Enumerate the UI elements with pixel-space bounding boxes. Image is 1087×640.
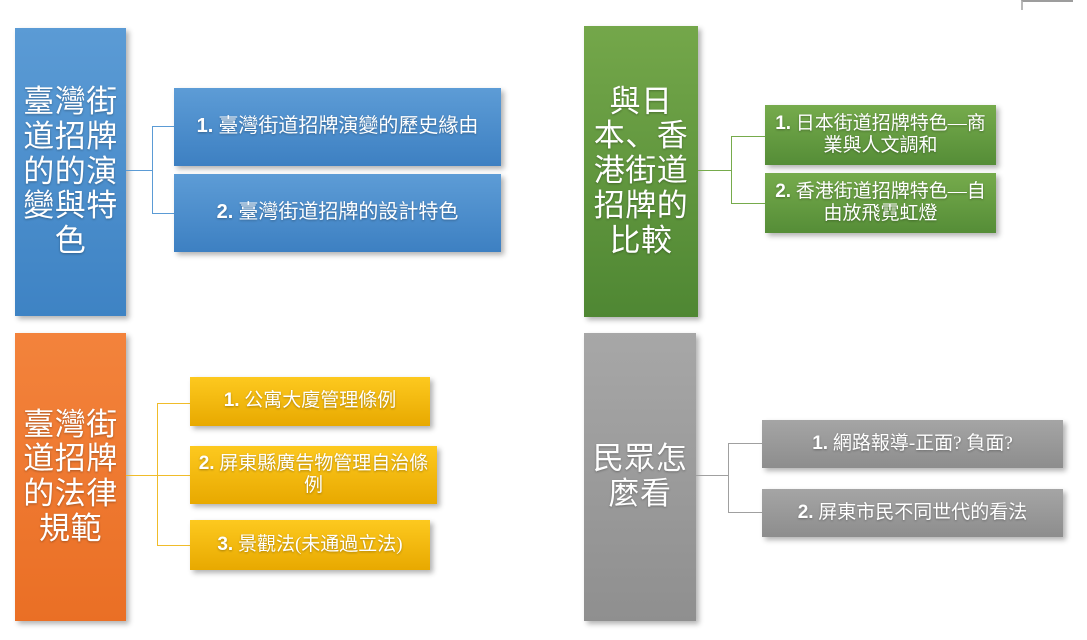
child-number: 1.	[812, 433, 828, 454]
child-number: 2.	[798, 502, 814, 523]
connector-spine-green	[731, 136, 732, 204]
branch-child-box[interactable]: 1. 公寓大廈管理條例	[190, 377, 430, 426]
child-text: 景觀法(未通過立法)	[238, 534, 403, 555]
branch-child-label: 3. 景觀法(未通過立法)	[198, 534, 422, 556]
branch-parent-label: 臺灣街道招牌的法律規範	[15, 408, 126, 547]
branch-child-label: 1. 網路報導-正面? 負面?	[770, 433, 1055, 455]
branch-child-box[interactable]: 2. 屏東縣廣告物管理自治條例	[190, 446, 437, 504]
branch-child-box[interactable]: 2. 屏東市民不同世代的看法	[762, 489, 1063, 537]
branch-parent-label: 臺灣街道招牌的的演變與特色	[15, 85, 126, 259]
connector-stem-grey	[696, 475, 729, 476]
branch-parent-taiwan-evolution[interactable]: 臺灣街道招牌的的演變與特色	[15, 28, 126, 316]
child-text: 屏東縣廣告物管理自治條例	[219, 453, 428, 496]
child-text: 臺灣街道招牌演變的歷史緣由	[218, 115, 478, 137]
child-text: 日本街道招牌特色—商業與人文調和	[796, 113, 986, 156]
branch-child-label: 2. 香港街道招牌特色—自由放飛霓虹燈	[773, 181, 988, 226]
connector-arm-grey-2	[728, 512, 764, 513]
child-number: 3.	[217, 534, 233, 555]
branch-child-box[interactable]: 1. 網路報導-正面? 負面?	[762, 420, 1063, 468]
child-text: 香港街道招牌特色—自由放飛霓虹燈	[796, 181, 986, 224]
child-text: 臺灣街道招牌的設計特色	[238, 201, 458, 223]
branch-parent-taiwan-law[interactable]: 臺灣街道招牌的法律規範	[15, 333, 126, 621]
branch-child-label: 2. 臺灣街道招牌的設計特色	[182, 201, 493, 225]
branch-child-label: 1. 日本街道招牌特色—商業與人文調和	[773, 113, 988, 158]
branch-parent-public-opinion[interactable]: 民眾怎麼看	[584, 333, 696, 621]
connector-stem-yellow	[126, 475, 158, 476]
connector-arm-yellow-1	[157, 403, 191, 404]
child-number: 1.	[775, 113, 791, 134]
child-number: 1.	[224, 390, 240, 411]
clipped-frame-artifact	[1021, 0, 1073, 10]
connector-arm-grey-1	[728, 443, 764, 444]
branch-parent-japan-hk-comparison[interactable]: 與日本、香港街道招牌的比較	[584, 26, 698, 317]
child-number: 2.	[217, 201, 234, 223]
child-text: 公寓大廈管理條例	[244, 390, 396, 411]
child-number: 1.	[197, 115, 214, 137]
connector-arm-green-1	[731, 136, 766, 137]
branch-child-label: 1. 公寓大廈管理條例	[198, 390, 422, 412]
child-text: 網路報導-正面? 負面?	[833, 433, 1013, 454]
connector-arm-blue-2	[152, 213, 175, 214]
branch-child-box[interactable]: 3. 景觀法(未通過立法)	[190, 520, 430, 570]
branch-child-box[interactable]: 1. 臺灣街道招牌演變的歷史緣由	[174, 88, 501, 166]
branch-child-box[interactable]: 2. 香港街道招牌特色—自由放飛霓虹燈	[765, 173, 996, 233]
connector-stem-green	[698, 170, 732, 171]
branch-child-box[interactable]: 2. 臺灣街道招牌的設計特色	[174, 174, 501, 252]
connector-stem-blue	[126, 170, 153, 171]
branch-child-box[interactable]: 1. 日本街道招牌特色—商業與人文調和	[765, 105, 996, 165]
branch-parent-label: 民眾怎麼看	[584, 442, 696, 511]
branch-parent-label: 與日本、香港街道招牌的比較	[584, 85, 698, 259]
branch-child-label: 2. 屏東市民不同世代的看法	[770, 502, 1055, 524]
diagram-canvas: 臺灣街道招牌的的演變與特色 1. 臺灣街道招牌演變的歷史緣由 2. 臺灣街道招牌…	[0, 0, 1087, 640]
branch-child-label: 2. 屏東縣廣告物管理自治條例	[198, 453, 429, 498]
connector-arm-yellow-2	[157, 475, 191, 476]
child-number: 2.	[199, 453, 215, 474]
connector-arm-green-2	[731, 203, 766, 204]
branch-child-label: 1. 臺灣街道招牌演變的歷史緣由	[182, 115, 493, 139]
connector-spine-blue	[152, 126, 153, 214]
connector-spine-grey	[728, 443, 729, 513]
connector-arm-blue-1	[152, 126, 175, 127]
connector-arm-yellow-3	[157, 545, 191, 546]
child-number: 2.	[775, 181, 791, 202]
child-text: 屏東市民不同世代的看法	[818, 502, 1027, 523]
